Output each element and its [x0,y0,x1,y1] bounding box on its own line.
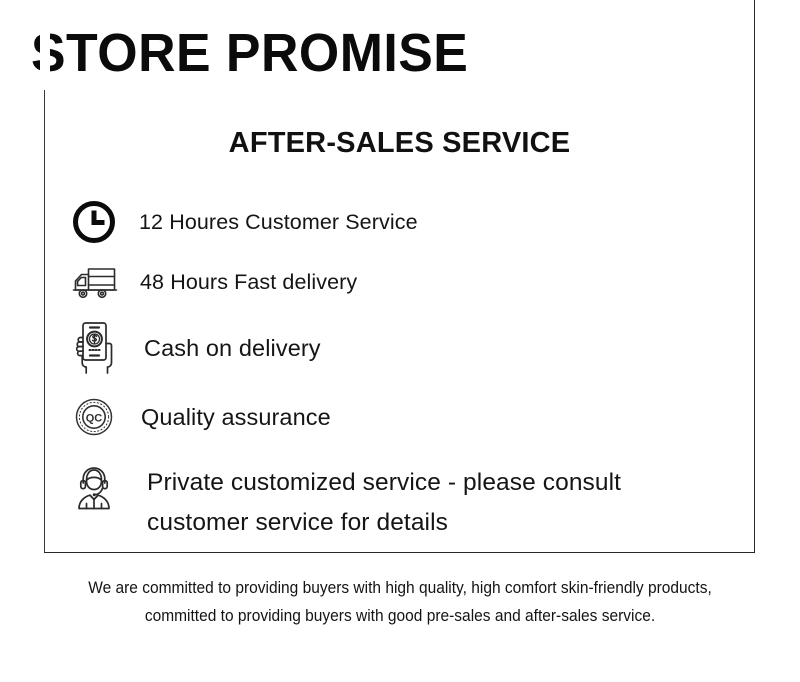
cash-on-delivery-phone-icon [44,312,144,384]
list-item-label: Quality assurance [141,384,331,450]
footer-line-2: committed to providing buyers with good … [80,602,719,630]
promise-list: 12 Houres Customer Service [44,192,755,546]
list-item-label: 48 Hours Fast delivery [140,252,357,312]
list-item-label: 12 Houres Customer Service [139,192,418,252]
store-promise-banner: STORE PROMISE AFTER-SALES SERVICE 12 Hou… [0,0,800,682]
list-item: QC Quality assurance [44,384,755,450]
panel-left-rule-mask [40,0,50,90]
list-item-label-line-2: customer service for details [147,503,621,543]
list-item-label: Cash on delivery [144,312,321,384]
list-item-label-line-1: Private customized service - please cons… [147,463,621,503]
list-item-label: Private customized service - please cons… [147,463,621,543]
customer-support-agent-icon [44,450,144,524]
list-item: 12 Houres Customer Service [44,192,755,252]
quality-control-badge-icon: QC [44,384,144,450]
section-heading: AFTER-SALES SERVICE [44,126,755,160]
footer-line-1: We are committed to providing buyers wit… [80,574,719,602]
svg-text:QC: QC [86,412,103,424]
clock-icon [44,192,144,252]
delivery-truck-icon [44,252,144,312]
list-item: Private customized service - please cons… [44,450,755,546]
list-item: Cash on delivery [44,312,755,384]
footer-note: We are committed to providing buyers wit… [80,574,719,630]
list-item: 48 Hours Fast delivery [44,252,755,312]
